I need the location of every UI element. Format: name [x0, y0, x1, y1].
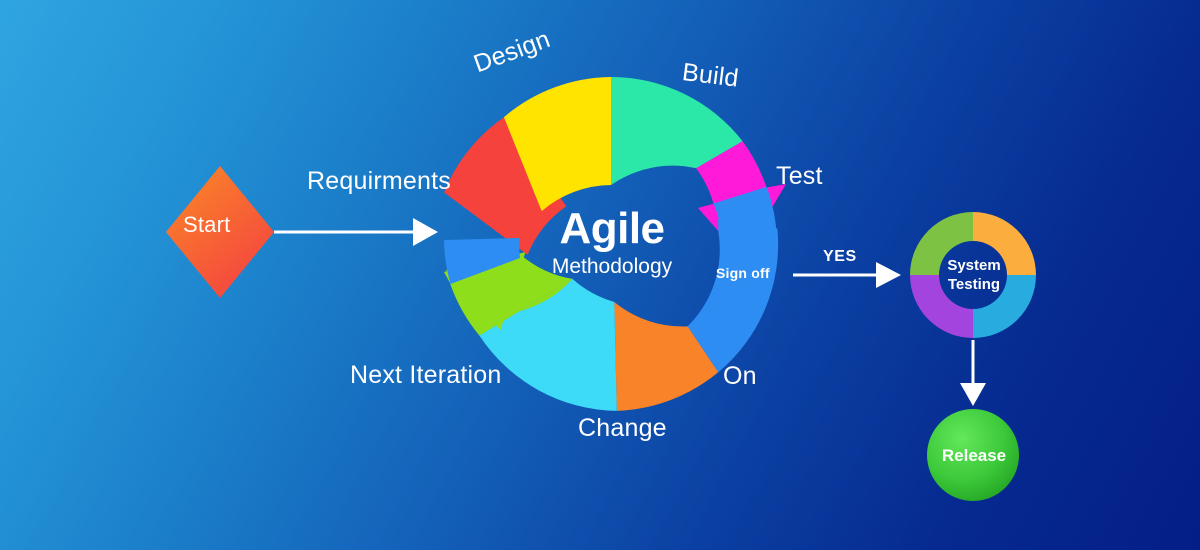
center-heading: Agile [445, 207, 779, 251]
yes-arrow-head [876, 262, 901, 288]
system-testing-label-line1: System [916, 258, 1032, 273]
release-arrow-head [960, 383, 986, 406]
system-testing-node[interactable] [910, 212, 1036, 338]
agile-methodology-diagram: Start Requirments Design Build Test Sign… [0, 0, 1200, 550]
wheel-label-test: Test [776, 162, 823, 191]
wheel-label-on: On [723, 362, 757, 391]
requirements-arrow [274, 218, 438, 246]
system-testing-label-line2: Testing [916, 277, 1032, 292]
wheel-label-next-iteration: Next Iteration [350, 361, 501, 390]
start-node-label: Start [183, 212, 230, 238]
yes-branch-label: YES [823, 248, 857, 266]
release-arrow [960, 340, 986, 406]
release-node-label: Release [916, 446, 1032, 466]
requirements-arrow-label: Requirments [307, 167, 451, 196]
wheel-label-change: Change [578, 414, 667, 443]
requirements-arrow-head [413, 218, 438, 246]
center-subheading: Methodology [445, 256, 779, 277]
